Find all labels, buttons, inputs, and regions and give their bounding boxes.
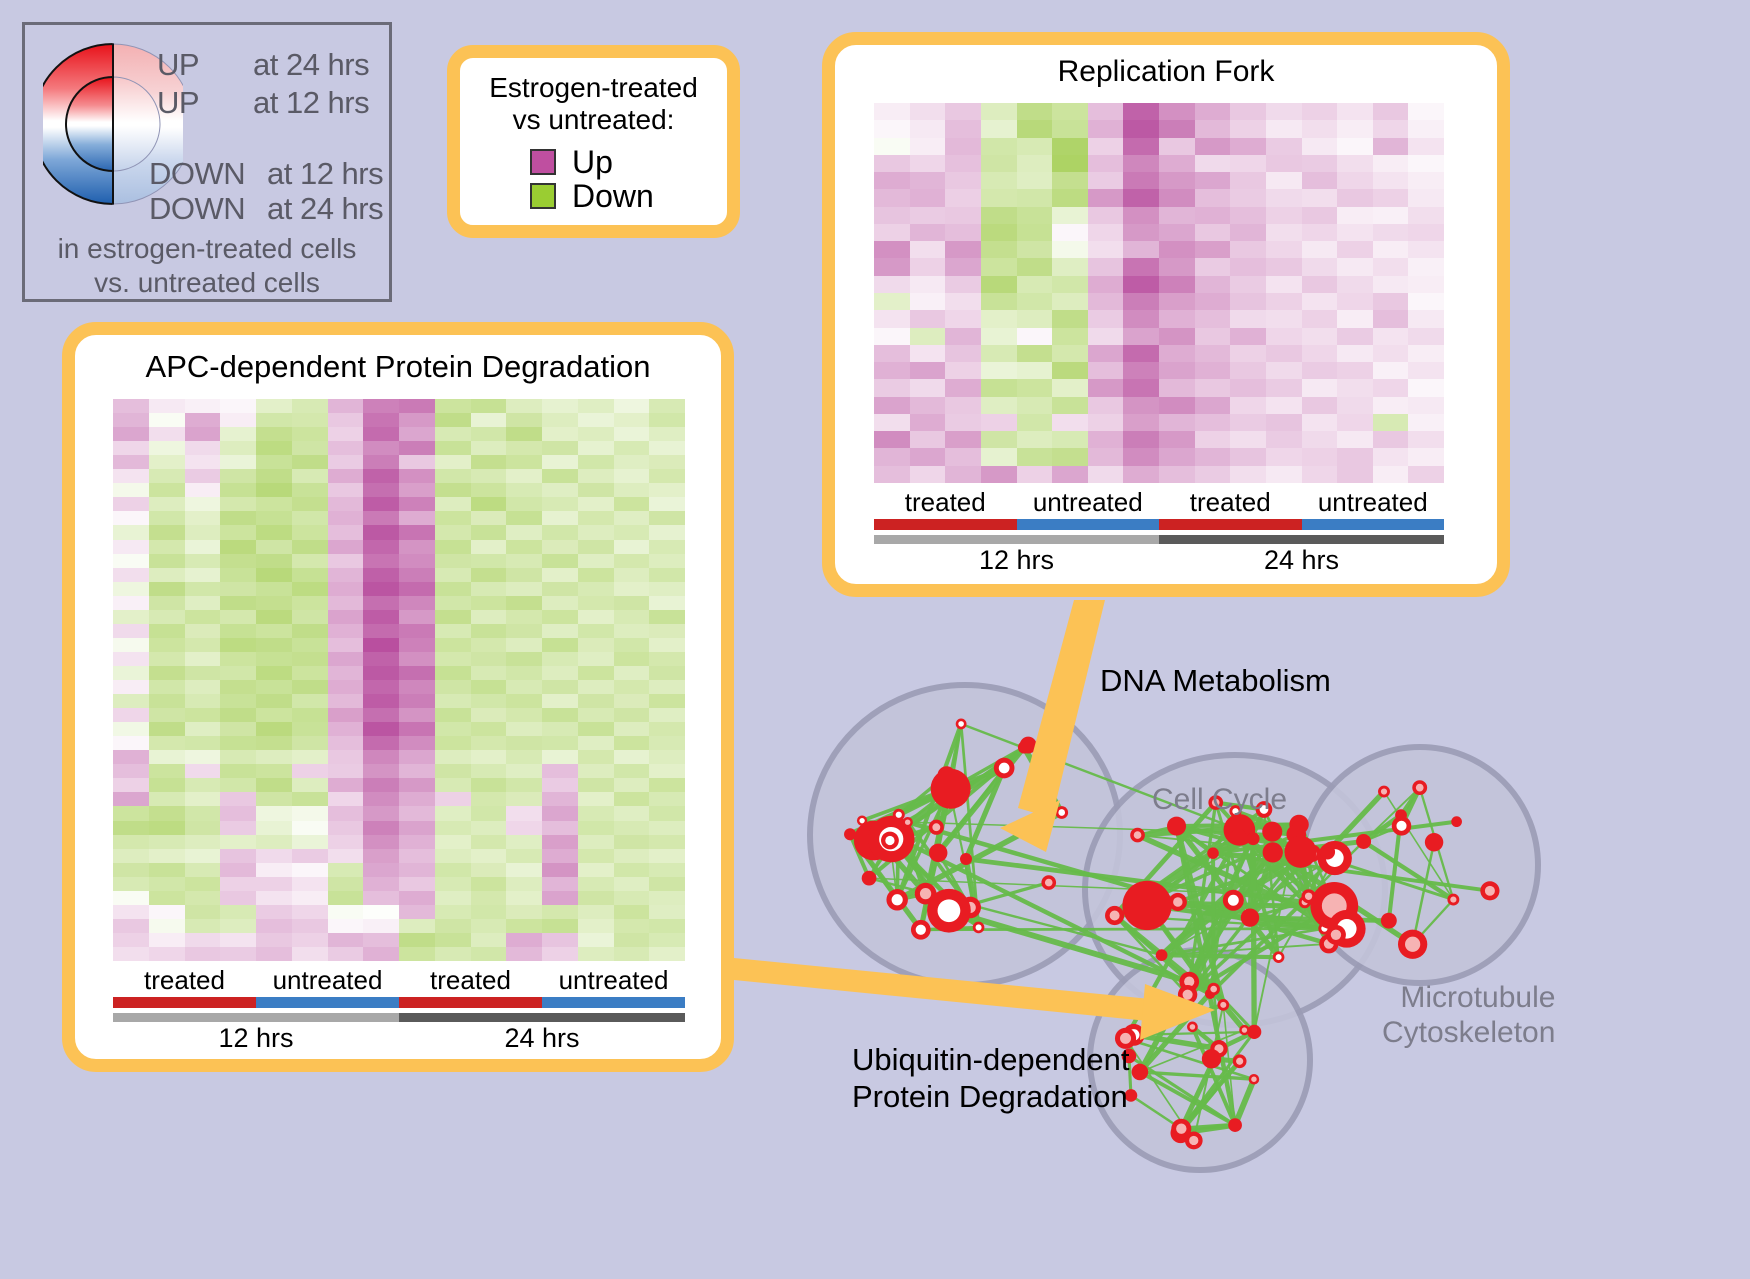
network-node[interactable] [1231,829,1246,844]
heatmap-cell [945,103,981,120]
heatmap-cell [506,399,542,413]
heatmap-cell [1159,138,1195,155]
heatmap-cell [910,138,946,155]
network-node[interactable] [1156,949,1168,961]
heatmap-cell [363,610,399,624]
heatmap-cell [1017,241,1053,258]
heatmap-cell [1266,466,1302,483]
heatmap-cell [981,448,1017,465]
heatmap-cell [1373,138,1409,155]
rf-time-1: 24 hrs [1159,545,1444,576]
network-node-core [1331,930,1341,940]
heatmap-cell [1159,120,1195,137]
heatmap-cell [399,694,435,708]
heatmap-cell [874,103,910,120]
heatmap-cell [910,276,946,293]
heatmap-cell [292,455,328,469]
heatmap-cell [1408,138,1444,155]
heatmap-cell [578,497,614,511]
heatmap-cell [981,207,1017,224]
network-node[interactable] [1381,913,1397,929]
heatmap-cell [399,821,435,835]
heatmap-cell [1195,431,1231,448]
up-label: Up [572,146,613,178]
heatmap-cell [506,877,542,891]
heatmap-cell [328,736,364,750]
heatmap-cell [328,525,364,539]
heatmap-cell [542,399,578,413]
heatmap-cell [220,666,256,680]
heatmap-cell [945,345,981,362]
network-node-core [932,823,940,831]
network-node-core [896,812,902,818]
apc-annotation: treated untreated treated untreated 12 h… [113,967,685,1054]
heatmap-cell [256,455,292,469]
network-node[interactable] [1425,833,1443,851]
heatmap-cell [542,540,578,554]
heatmap-cell [292,877,328,891]
heatmap-cell [113,764,149,778]
heatmap-cell [328,455,364,469]
network-node[interactable] [1122,881,1171,930]
heatmap-cell [506,933,542,947]
cluster-label-microtubule-cytoskeleton: Microtubule Cytoskeleton [1382,980,1555,1051]
heatmap-cell [506,511,542,525]
heatmap-cell [363,624,399,638]
heatmap-cell [1088,155,1124,172]
heatmap-cell [945,138,981,155]
apc-degradation-panel: APC-dependent Protein Degradation treate… [62,322,734,1072]
heatmap-cell [256,399,292,413]
network-node[interactable] [1356,834,1371,849]
heatmap-cell [220,525,256,539]
heatmap-cell [649,877,685,891]
heatmap-cell [1266,138,1302,155]
heatmap-cell [1123,189,1159,206]
rf-group-bars [874,519,1444,530]
heatmap-cell [1230,155,1266,172]
apc-time-1: 24 hrs [399,1023,685,1054]
heatmap-cell [614,540,650,554]
heatmap-cell [363,694,399,708]
heatmap-cell [910,103,946,120]
heatmap-cell [874,138,910,155]
heatmap-cell [256,947,292,961]
heatmap-cell [910,466,946,483]
heatmap-cell [542,554,578,568]
heatmap-cell [399,596,435,610]
heatmap-cell [435,750,471,764]
heatmap-cell [874,224,910,241]
heatmap-cell [542,582,578,596]
heatmap-cell [328,582,364,596]
heatmap-cell [578,624,614,638]
wheel-row-0-direction: UP [157,47,199,83]
heatmap-cell [649,469,685,483]
heatmap-cell [1230,397,1266,414]
heatmap-cell [614,554,650,568]
heatmap-cell [363,821,399,835]
heatmap-cell [471,413,507,427]
apc-group-bars [113,997,685,1008]
heatmap-cell [113,441,149,455]
heatmap-cell [649,568,685,582]
heatmap-cell [328,708,364,722]
heatmap-cell [542,497,578,511]
heatmap-cell [1159,431,1195,448]
heatmap-cell [256,919,292,933]
network-node-core [1251,1076,1256,1081]
heatmap-cell [506,947,542,961]
heatmap-cell [1408,466,1444,483]
network-node-core [958,721,964,727]
heatmap-cell [471,933,507,947]
heatmap-cell [614,863,650,877]
heatmap-cell [874,328,910,345]
heatmap-cell [981,138,1017,155]
heatmap-cell [649,582,685,596]
heatmap-cell [363,849,399,863]
heatmap-cell [1159,103,1195,120]
heatmap-cell [435,413,471,427]
heatmap-cell [471,624,507,638]
heatmap-cell [614,497,650,511]
network-edge [1253,839,1254,1032]
heatmap-cell [542,427,578,441]
apc-group-2: treated [399,967,542,994]
replication-fork-heatmap [874,103,1444,483]
heatmap-cell [292,540,328,554]
heatmap-cell [506,427,542,441]
heatmap-cell [363,497,399,511]
network-node[interactable] [1247,832,1260,845]
heatmap-cell [292,835,328,849]
network-node[interactable] [929,844,947,862]
heatmap-cell [113,525,149,539]
heatmap-cell [149,427,185,441]
heatmap-cell [506,680,542,694]
heatmap-cell [113,708,149,722]
heatmap-cell [328,568,364,582]
heatmap-cell [910,379,946,396]
heatmap-cell [1017,103,1053,120]
heatmap-cell [1159,345,1195,362]
heatmap-cell [1266,276,1302,293]
heatmap-cell [471,835,507,849]
network-node-core [1220,1002,1226,1008]
heatmap-cell [113,582,149,596]
heatmap-cell [328,835,364,849]
heatmap-cell [471,947,507,961]
network-node[interactable] [1284,836,1316,868]
heatmap-cell [399,708,435,722]
heatmap-cell [113,680,149,694]
heatmap-cell [1302,293,1338,310]
heatmap-cell [1123,155,1159,172]
heatmap-cell [185,568,221,582]
heatmap-cell [614,821,650,835]
heatmap-cell [363,919,399,933]
heatmap-cell [1230,466,1266,483]
heatmap-cell [614,624,650,638]
network-node[interactable] [1207,847,1219,859]
heatmap-cell [113,540,149,554]
replication-fork-panel: Replication Fork treated untreated treat… [822,32,1510,597]
heatmap-cell [542,441,578,455]
heatmap-cell [614,778,650,792]
heatmap-cell [1195,362,1231,379]
heatmap-cell [185,891,221,905]
heatmap-cell [578,736,614,750]
wheel-row-3-time: at 24 hrs [267,191,383,227]
heatmap-cell [149,638,185,652]
heatmap-cell [435,792,471,806]
wheel-row-1-time: at 12 hrs [253,85,369,121]
heatmap-cell [1088,328,1124,345]
heatmap-cell [185,905,221,919]
heatmap-cell [471,863,507,877]
heatmap-cell [220,919,256,933]
heatmap-cell [328,891,364,905]
heatmap-cell [185,849,221,863]
heatmap-cell [1373,431,1409,448]
heatmap-cell [185,806,221,820]
heatmap-cell [542,919,578,933]
heatmap-cell [506,849,542,863]
network-node[interactable] [844,828,856,840]
heatmap-cell [363,947,399,961]
heatmap-cell [149,652,185,666]
heatmap-cell [435,624,471,638]
heatmap-cell [220,863,256,877]
heatmap-cell [874,207,910,224]
heatmap-cell [1230,310,1266,327]
heatmap-cell [292,652,328,666]
heatmap-cell [149,905,185,919]
heatmap-cell [1017,379,1053,396]
network-node[interactable] [1132,1064,1149,1081]
heatmap-cell [910,241,946,258]
heatmap-cell [1266,120,1302,137]
heatmap-cell [149,554,185,568]
heatmap-cell [328,947,364,961]
heatmap-cell [1230,172,1266,189]
heatmap-cell [1052,120,1088,137]
heatmap-cell [1052,448,1088,465]
heatmap-cell [435,806,471,820]
heatmap-cell [149,919,185,933]
heatmap-cell [149,497,185,511]
heatmap-cell [435,778,471,792]
network-node[interactable] [931,769,971,809]
heatmap-cell [256,483,292,497]
heatmap-cell [1408,276,1444,293]
heatmap-cell [981,414,1017,431]
legend-title-line1: Estrogen-treated [460,72,727,104]
heatmap-cell [578,778,614,792]
wheel-footer-line2: vs. untreated cells [25,266,389,300]
heatmap-cell [506,750,542,764]
apc-bar-untreated-12 [256,997,399,1008]
heatmap-cell [945,310,981,327]
heatmap-cell [649,638,685,652]
heatmap-cell [435,441,471,455]
heatmap-cell [1088,379,1124,396]
heatmap-cell [1302,310,1338,327]
heatmap-cell [578,877,614,891]
heatmap-cell [874,120,910,137]
heatmap-cell [113,469,149,483]
heatmap-cell [1337,258,1373,275]
heatmap-cell [328,821,364,835]
heatmap-cell [149,708,185,722]
network-node[interactable] [960,853,972,865]
heatmap-cell [1123,431,1159,448]
network-node-core [1236,1058,1243,1065]
wheel-row-2-time: at 12 hrs [267,156,383,192]
heatmap-cell [185,680,221,694]
heatmap-cell [874,189,910,206]
heatmap-cell [292,792,328,806]
heatmap-cell [1052,293,1088,310]
heatmap-cell [649,919,685,933]
heatmap-cell [185,610,221,624]
network-node[interactable] [1241,908,1259,926]
heatmap-cell [1195,103,1231,120]
heatmap-cell [981,155,1017,172]
heatmap-cell [328,413,364,427]
heatmap-cell [1266,224,1302,241]
heatmap-cell [399,610,435,624]
heatmap-cell [542,736,578,750]
heatmap-cell [292,582,328,596]
heatmap-cell [1337,310,1373,327]
heatmap-cell [435,877,471,891]
heatmap-cell [399,554,435,568]
heatmap-cell [506,469,542,483]
heatmap-cell [471,821,507,835]
heatmap-cell [363,540,399,554]
heatmap-cell [945,258,981,275]
rf-group-labels: treated untreated treated untreated [874,489,1444,516]
heatmap-cell [649,905,685,919]
heatmap-cell [1230,345,1266,362]
heatmap-cell [149,821,185,835]
heatmap-cell [945,328,981,345]
heatmap-cell [1373,379,1409,396]
heatmap-cell [614,441,650,455]
heatmap-cell [1408,172,1444,189]
heatmap-cell [363,778,399,792]
heatmap-cell [292,596,328,610]
heatmap-cell [471,666,507,680]
heatmap-cell [435,680,471,694]
heatmap-cell [149,413,185,427]
heatmap-cell [1123,414,1159,431]
heatmap-cell [149,680,185,694]
network-node[interactable] [1167,817,1186,836]
heatmap-cell [1373,362,1409,379]
heatmap-cell [149,764,185,778]
heatmap-cell [399,792,435,806]
network-node[interactable] [862,871,877,886]
network-node[interactable] [1202,1049,1221,1068]
heatmap-cell [363,469,399,483]
apc-bar-treated-12 [113,997,256,1008]
network-node-core [1210,986,1217,993]
heatmap-cell [1230,293,1266,310]
heatmap-cell [363,891,399,905]
heatmap-cell [1408,241,1444,258]
network-node[interactable] [1451,816,1462,827]
heatmap-cell [542,764,578,778]
heatmap-cell [1017,293,1053,310]
heatmap-cell [113,455,149,469]
heatmap-cell [292,736,328,750]
heatmap-cell [399,806,435,820]
heatmap-cell [1017,138,1053,155]
heatmap-cell [149,666,185,680]
heatmap-cell [1123,258,1159,275]
heatmap-cell [542,708,578,722]
heatmap-cell [435,835,471,849]
heatmap-cell [1123,293,1159,310]
heatmap-cell [292,722,328,736]
network-node[interactable] [1262,822,1282,842]
heatmap-cell [1230,224,1266,241]
heatmap-cell [256,905,292,919]
network-node[interactable] [1320,844,1335,859]
heatmap-cell [363,582,399,596]
heatmap-cell [1017,414,1053,431]
heatmap-cell [649,736,685,750]
heatmap-cell [328,722,364,736]
heatmap-cell [149,778,185,792]
heatmap-cell [185,399,221,413]
network-node-core [999,763,1010,774]
heatmap-cell [542,511,578,525]
heatmap-cell [256,666,292,680]
heatmap-cell [435,469,471,483]
network-node[interactable] [1020,737,1037,754]
heatmap-cell [981,293,1017,310]
heatmap-cell [542,849,578,863]
heatmap-cell [435,863,471,877]
heatmap-cell [578,821,614,835]
network-node[interactable] [1263,842,1283,862]
network-node[interactable] [1228,1118,1242,1132]
heatmap-cell [1123,362,1159,379]
heatmap-cell [435,905,471,919]
heatmap-cell [292,806,328,820]
heatmap-cell [1230,431,1266,448]
heatmap-cell [220,455,256,469]
heatmap-cell [1337,241,1373,258]
heatmap-cell [1373,241,1409,258]
heatmap-cell [328,441,364,455]
heatmap-cell [220,624,256,638]
heatmap-cell [363,413,399,427]
heatmap-cell [328,554,364,568]
heatmap-cell [113,596,149,610]
heatmap-cell [1373,345,1409,362]
heatmap-cell [614,582,650,596]
heatmap-cell [1088,276,1124,293]
heatmap-cell [506,792,542,806]
heatmap-cell [649,525,685,539]
heatmap-cell [614,736,650,750]
heatmap-cell [113,638,149,652]
